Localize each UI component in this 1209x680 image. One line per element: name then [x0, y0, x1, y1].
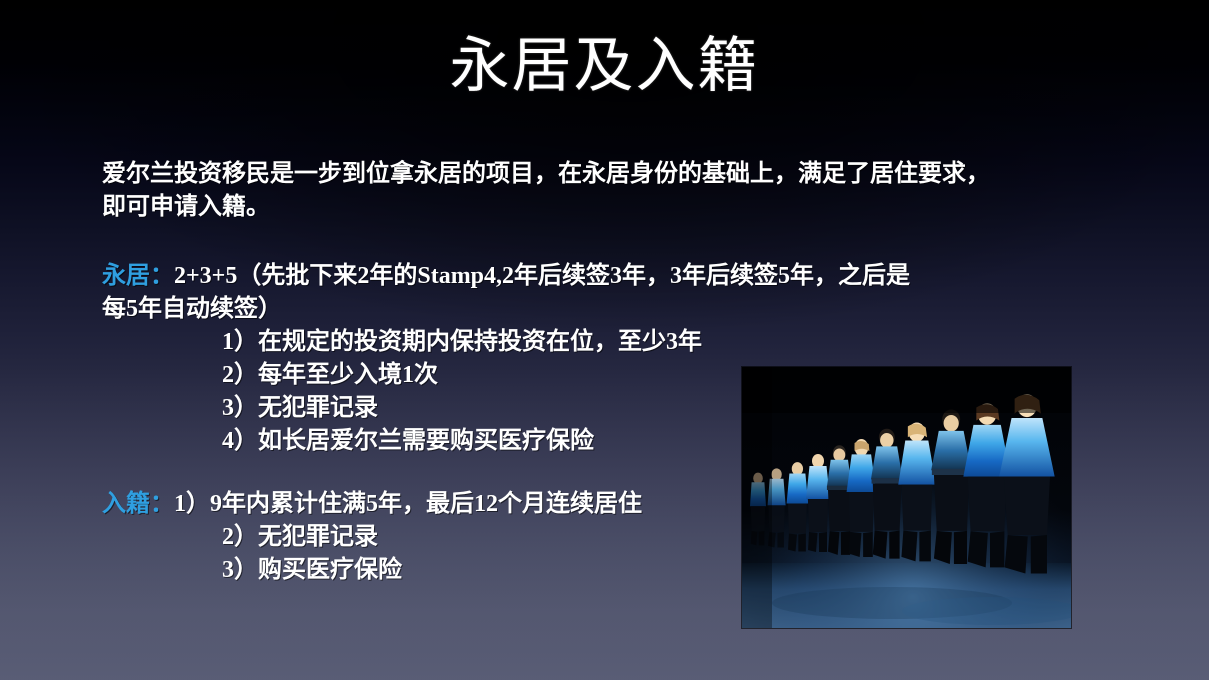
residency-summary-line-1: 2+3+5（先批下来2年的Stamp4,2年后续签3年，3年后续签5年，之后是: [174, 263, 910, 289]
intro-paragraph: 爱尔兰投资移民是一步到位拿永居的项目，在永居身份的基础上，满足了居住要求，即可申…: [102, 158, 1007, 224]
list-item: 1）在规定的投资期内保持投资在位，至少3年: [222, 326, 1022, 359]
spacer: [102, 224, 1022, 260]
irish-dancers-photo: [742, 367, 1071, 628]
residency-label: 永居：: [102, 263, 174, 289]
page-title: 永居及入籍: [0, 30, 1209, 102]
presentation-slide: 永居及入籍 爱尔兰投资移民是一步到位拿永居的项目，在永居身份的基础上，满足了居住…: [0, 0, 1209, 680]
naturalization-label: 入籍：: [102, 491, 174, 517]
residency-section: 永居：2+3+5（先批下来2年的Stamp4,2年后续签3年，3年后续签5年，之…: [102, 260, 1014, 293]
naturalization-first-item: 1）9年内累计住满5年，最后12个月连续居住: [174, 491, 642, 517]
residency-summary-line-2: 每5年自动续签）: [102, 293, 1014, 326]
